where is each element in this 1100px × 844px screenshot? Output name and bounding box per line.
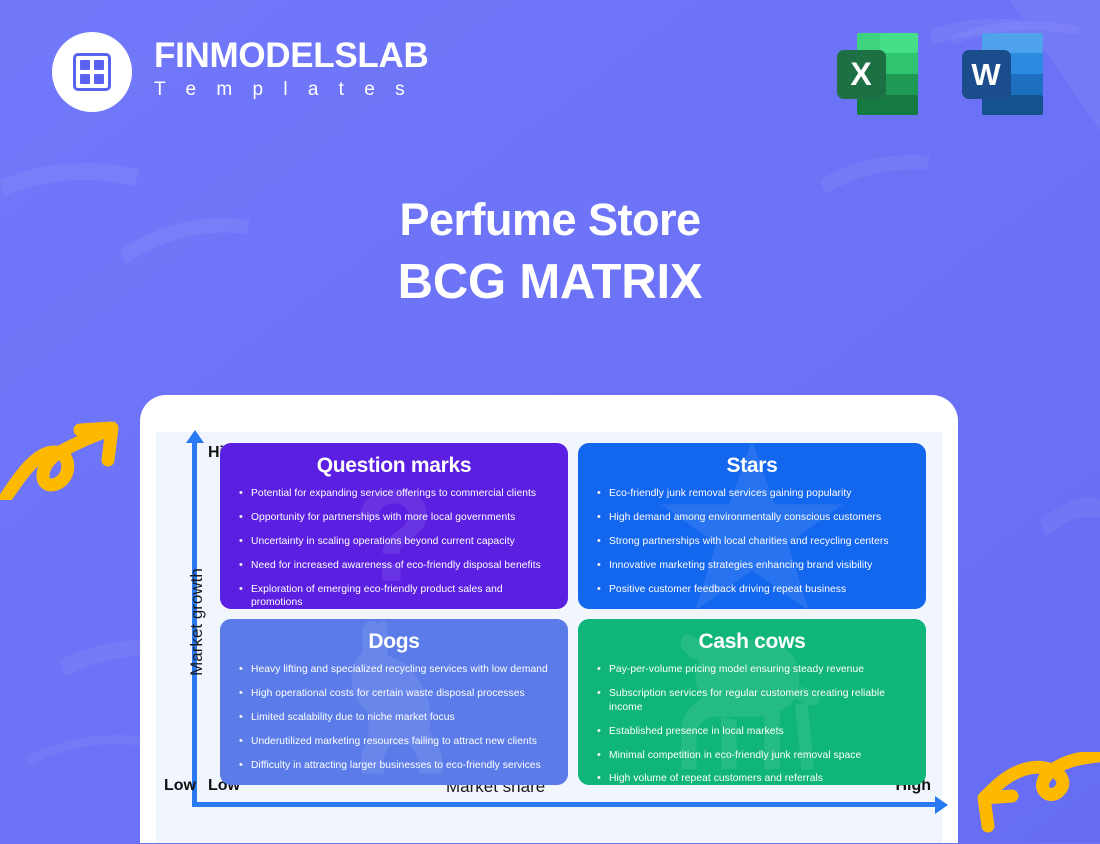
quadrant-cash-cows[interactable]: Cash cows Pay-per-volume pricing model e…: [578, 619, 926, 785]
list-item: Heavy lifting and specialized recycling …: [238, 663, 554, 677]
list-item: High volume of repeat customers and refe…: [596, 772, 912, 785]
quadrant-question-marks[interactable]: ? Question marks Potential for expanding…: [220, 443, 568, 609]
quadrant-title: Cash cows: [588, 630, 916, 654]
svg-text:W: W: [971, 57, 1001, 92]
page-header: FINMODELSLAB T e m p l a t e s X: [0, 0, 1100, 150]
squiggly-arrow-up-right-icon: [0, 408, 124, 500]
quadrant-stars[interactable]: Stars Eco-friendly junk removal services…: [578, 443, 926, 609]
file-format-badges: X W: [830, 27, 1050, 122]
quadrant-item-list: Eco-friendly junk removal services gaini…: [588, 487, 916, 596]
list-item: Eco-friendly junk removal services gaini…: [596, 487, 912, 501]
bcg-matrix-panel: High Low Market growth Market share High…: [156, 432, 942, 843]
list-item: High demand among environmentally consci…: [596, 511, 912, 525]
page-title: Perfume Store: [0, 190, 1100, 250]
grid-square-icon: [73, 53, 111, 91]
list-item: Opportunity for partnerships with more l…: [238, 511, 554, 525]
page-subtitle: BCG MATRIX: [0, 250, 1100, 315]
quadrant-item-list: Pay-per-volume pricing model ensuring st…: [588, 663, 916, 785]
list-item: High operational costs for certain waste…: [238, 687, 554, 701]
quadrant-item-list: Potential for expanding service offering…: [230, 487, 558, 609]
quadrant-item-list: Heavy lifting and specialized recycling …: [230, 663, 558, 772]
list-item: Underutilized marketing resources failin…: [238, 735, 554, 749]
word-file-icon[interactable]: W: [955, 27, 1050, 122]
quadrant-title: Question marks: [230, 454, 558, 478]
list-item: Uncertainty in scaling operations beyond…: [238, 535, 554, 549]
brand-name: FINMODELSLAB: [154, 38, 428, 75]
quadrant-grid: ? Question marks Potential for expanding…: [220, 443, 926, 785]
brand-logo-mark: [52, 32, 132, 112]
brand-text: FINMODELSLAB T e m p l a t e s: [154, 38, 428, 105]
list-item: Need for increased awareness of eco-frie…: [238, 559, 554, 573]
list-item: Limited scalability due to niche market …: [238, 711, 554, 725]
list-item: Exploration of emerging eco-friendly pro…: [238, 583, 554, 609]
list-item: Positive customer feedback driving repea…: [596, 583, 912, 597]
list-item: Minimal competition in eco-friendly junk…: [596, 749, 912, 763]
excel-file-icon[interactable]: X: [830, 27, 925, 122]
quadrant-title: Stars: [588, 454, 916, 478]
list-item: Subscription services for regular custom…: [596, 687, 912, 715]
list-item: Strong partnerships with local charities…: [596, 535, 912, 549]
list-item: Difficulty in attracting larger business…: [238, 759, 554, 773]
bcg-matrix-card: High Low Market growth Market share High…: [140, 395, 958, 843]
y-axis-label: Market growth: [187, 552, 207, 692]
brand-logo[interactable]: FINMODELSLAB T e m p l a t e s: [52, 32, 428, 112]
list-item: Innovative marketing strategies enhancin…: [596, 559, 912, 573]
svg-text:X: X: [850, 56, 872, 92]
list-item: Established presence in local markets: [596, 725, 912, 739]
list-item: Pay-per-volume pricing model ensuring st…: [596, 663, 912, 677]
squiggly-arrow-down-left-icon: [968, 752, 1100, 844]
quadrant-title: Dogs: [230, 630, 558, 654]
quadrant-dogs[interactable]: Dogs Heavy lifting and specialized recyc…: [220, 619, 568, 785]
list-item: Potential for expanding service offering…: [238, 487, 554, 501]
x-axis-arrow: [192, 802, 937, 807]
x-axis-low-label: Low: [164, 777, 196, 795]
brand-subtitle: T e m p l a t e s: [154, 75, 428, 105]
page-title-block: Perfume Store BCG MATRIX: [0, 190, 1100, 315]
